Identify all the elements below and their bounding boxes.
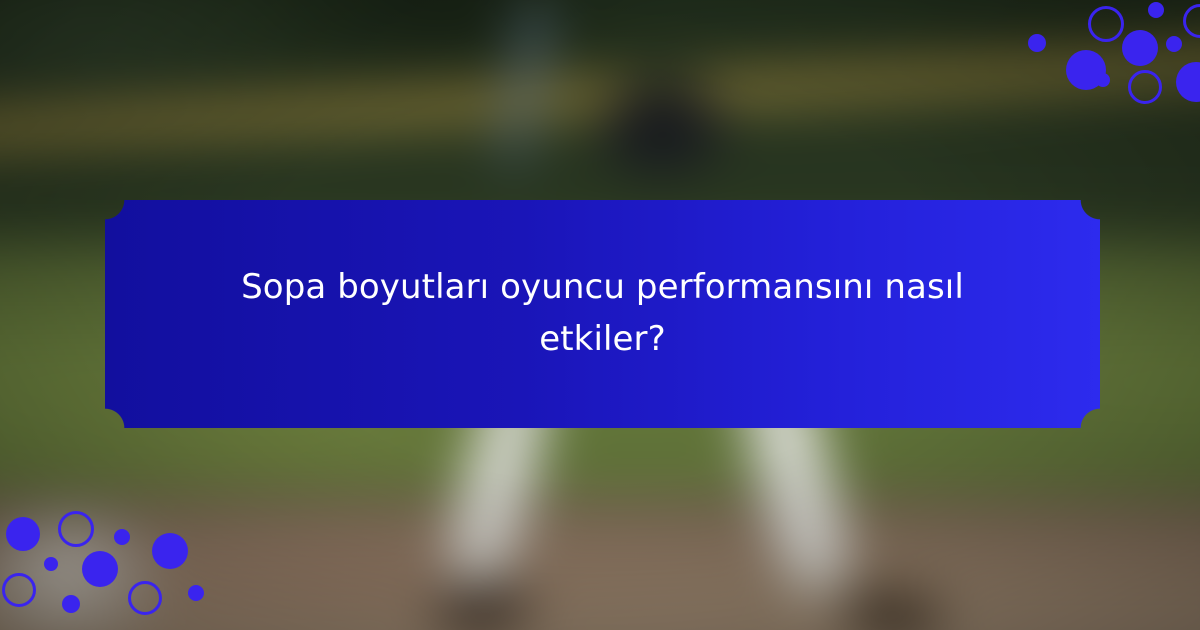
social-card: Sopa boyutları oyuncu performansını nası… bbox=[0, 0, 1200, 630]
decorative-circle-fill-6 bbox=[1166, 36, 1182, 52]
headline-banner: Sopa boyutları oyuncu performansını nası… bbox=[105, 200, 1100, 428]
decorative-dots-top-right bbox=[970, 0, 1200, 135]
decorative-circle-fill-9 bbox=[1176, 62, 1200, 102]
decorative-circle-fill-0 bbox=[6, 517, 40, 551]
decorative-circle-fill-7 bbox=[62, 595, 80, 613]
decorative-circle-ring-6 bbox=[2, 573, 36, 607]
decorative-circle-fill-4 bbox=[44, 557, 58, 571]
decorative-circle-fill-0 bbox=[1028, 34, 1046, 52]
decorative-dots-bottom-left bbox=[0, 495, 230, 630]
decorative-circle-fill-2 bbox=[114, 529, 130, 545]
decorative-circle-fill-7 bbox=[1096, 73, 1110, 87]
decorative-circle-fill-5 bbox=[1122, 30, 1158, 66]
decorative-circle-fill-9 bbox=[188, 585, 204, 601]
decorative-circle-ring-8 bbox=[128, 581, 162, 615]
decorative-circle-ring-8 bbox=[1128, 70, 1162, 104]
decorative-circle-fill-3 bbox=[152, 533, 188, 569]
decorative-circle-ring-3 bbox=[1183, 4, 1200, 38]
headline-text: Sopa boyutları oyuncu performansını nası… bbox=[184, 262, 1022, 365]
decorative-circle-ring-1 bbox=[58, 511, 94, 547]
decorative-circle-fill-5 bbox=[82, 551, 118, 587]
decorative-circle-fill-2 bbox=[1148, 2, 1164, 18]
decorative-circle-ring-1 bbox=[1088, 6, 1124, 42]
